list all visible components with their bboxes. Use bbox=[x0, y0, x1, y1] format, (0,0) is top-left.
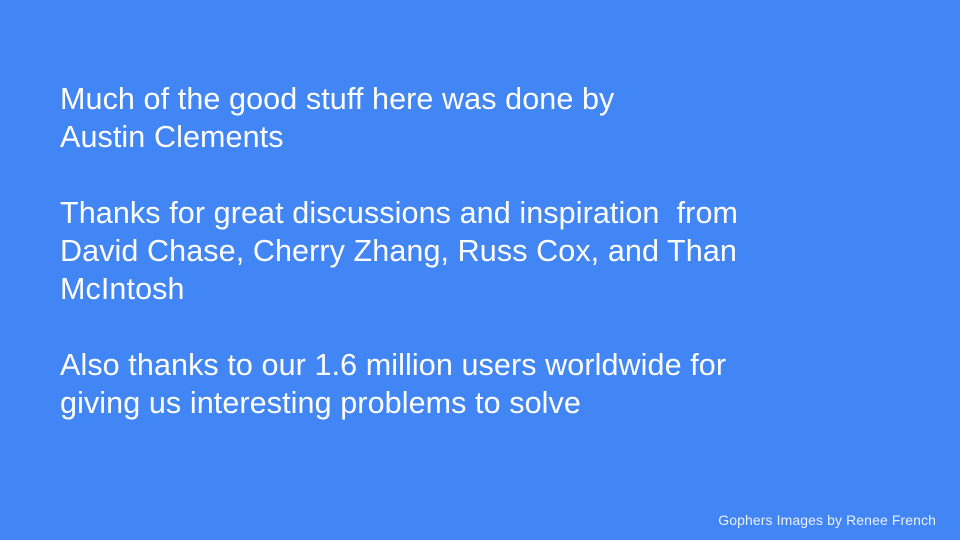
footer-image-credit: Gophers Images by Renee French bbox=[718, 511, 936, 529]
paragraph-spacer bbox=[60, 156, 890, 194]
paragraph-users: Also thanks to our 1.6 million users wor… bbox=[60, 346, 890, 422]
paragraph-thanks: Thanks for great discussions and inspira… bbox=[60, 194, 890, 308]
paragraph-spacer bbox=[60, 308, 890, 346]
presentation-slide: Much of the good stuff here was done by … bbox=[0, 0, 960, 540]
paragraph-credits: Much of the good stuff here was done by … bbox=[60, 80, 890, 156]
slide-body-text: Much of the good stuff here was done by … bbox=[60, 80, 890, 422]
